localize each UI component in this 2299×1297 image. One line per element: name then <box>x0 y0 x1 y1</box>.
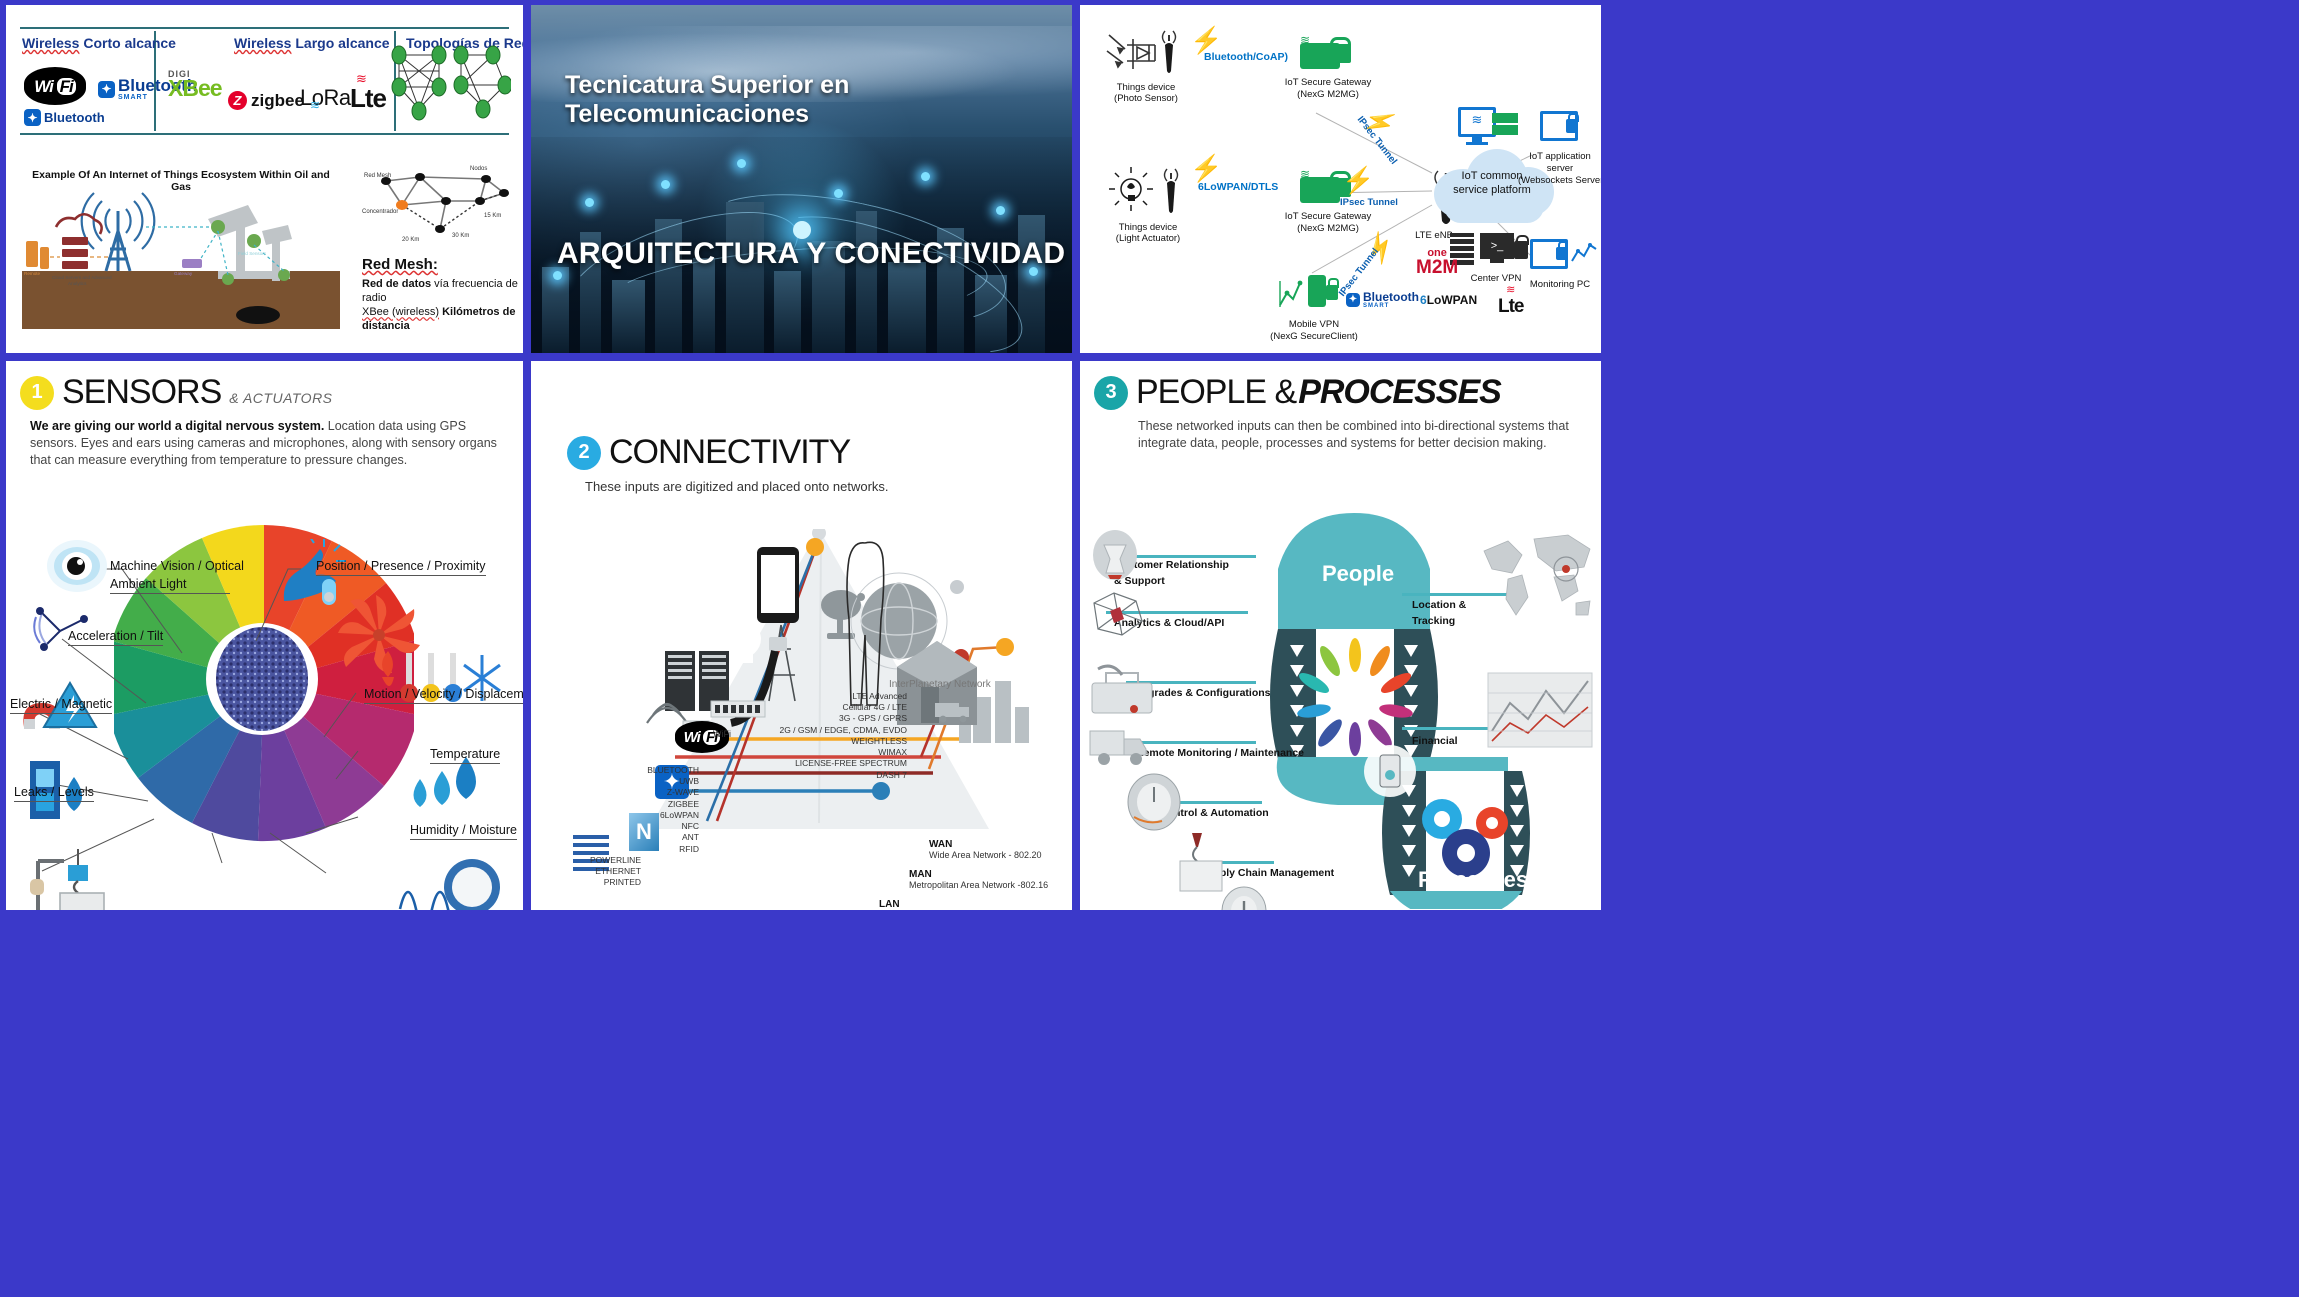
wifi-arc-icon-1: ≋ <box>1300 33 1310 48</box>
mesh-label-30km: 30 Km <box>452 233 469 239</box>
panel-title-slide: Tecnicatura Superior en Telecomunicacion… <box>531 5 1072 353</box>
monitor-icon-top: ≋ <box>1458 107 1496 137</box>
node-monitoring-pc-label: Monitoring PC <box>1520 279 1600 291</box>
lte-text: Lte <box>350 83 386 114</box>
sensors-heading: 1 SENSORS & ACTUATORS <box>6 361 523 412</box>
node-light-actuator-line2: (Light Actuator) <box>1098 233 1198 245</box>
label-position-presence: Position / Presence / Proximity <box>316 559 486 576</box>
panel-people-processes: 3 PEOPLE & PROCESSES These networked inp… <box>1080 361 1601 910</box>
pp-label-tracking: Tracking <box>1412 615 1455 627</box>
cloud-server-icon: ≋ <box>1458 107 1496 145</box>
wired-0: POWERLINE <box>567 855 641 866</box>
digi-xbee-logo: DIGI XBee <box>168 71 222 98</box>
section-number-2: 2 <box>567 436 601 470</box>
short-1: UWB <box>591 776 699 787</box>
bolt-icon-1: ⚡ <box>1190 27 1222 53</box>
bluetooth-icon: ✦ <box>24 109 41 126</box>
lora-text: LoRa <box>300 85 351 111</box>
bolt-icon-4: ⚡ <box>1342 167 1374 193</box>
red-mesh-note-km: Kilómetros de <box>442 306 515 318</box>
svg-text:Cloud Servers and Advanced: Cloud Servers and Advanced <box>52 275 112 280</box>
col-short-range: Wireless Corto alcance <box>22 35 176 51</box>
connectivity-heading: 2 CONNECTIVITY <box>531 361 1072 472</box>
node-mobile-vpn-line2: (NexG SecureClient) <box>1248 331 1380 343</box>
zigbee-icon: Z <box>228 91 247 110</box>
pp-label-location: Location & <box>1412 599 1466 611</box>
bluetooth-logo-text: Bluetooth <box>44 111 105 124</box>
node-light-actuator: Things device (Light Actuator) <box>1098 165 1198 245</box>
xbee-text: XBee <box>168 79 222 99</box>
6lowpan-logo: 6LoWPAN <box>1420 293 1477 307</box>
svg-text:Field Sensors: Field Sensors <box>238 251 267 256</box>
short-0: BLUETOOTH <box>591 765 699 776</box>
people-body: These networked inputs can then be combi… <box>1080 412 1601 452</box>
slide-grid: Wireless Corto alcance Wireless Largo al… <box>0 0 2299 1297</box>
red-mesh-note-xbee: XBee (wireless) <box>362 306 439 318</box>
net-lan: LAN Local Area Network - 802.11 <box>879 899 992 910</box>
node-app-server-line2: server <box>1518 163 1601 175</box>
lte-wave-icon: ≋ <box>1498 283 1524 296</box>
red-mesh-note-dist: distancia <box>362 320 410 332</box>
lte-logo: ≋ Lte <box>350 83 386 114</box>
cellular-7: DASH 7 <box>719 770 907 781</box>
node-photo-sensor: Things device (Photo Sensor) <box>1098 29 1194 105</box>
svg-text:Gateway: Gateway <box>174 271 193 276</box>
eye-icon <box>46 539 108 598</box>
label-motion-velocity: Motion / Velocity / Displacement <box>364 687 523 704</box>
node-light-actuator-line1: Things device <box>1098 222 1198 234</box>
wifi-label: WiFi <box>713 729 731 739</box>
oil-gas-ecosystem-diagram: Example Of An Internet of Things Ecosyst… <box>22 165 340 335</box>
label-ambient-light: Ambient Light <box>110 577 230 594</box>
topic-title: ARQUITECTURA Y CONECTIVIDAD <box>557 237 1065 271</box>
people-title-a: PEOPLE & <box>1136 373 1296 412</box>
mesh-label-red-mesh: Red Mesh <box>364 173 391 179</box>
net-wan: WAN Wide Area Network - 802.20 <box>929 839 1042 860</box>
label-temperature: Temperature <box>430 747 500 764</box>
red-mesh-note-bold: Red de datos <box>362 278 431 290</box>
onem2m-text-m2m: M2M <box>1416 259 1458 276</box>
connectivity-title: CONNECTIVITY <box>609 433 850 472</box>
red-mesh-note: Red Mesh: Red de datos vía frecuencia de… <box>362 255 520 334</box>
bluetooth-icon: ✦ <box>1346 293 1360 307</box>
node-photo-sensor-line2: (Photo Sensor) <box>1098 93 1194 105</box>
net-man: MAN Metropolitan Area Network -802.16 <box>909 869 1048 890</box>
world-map-icon <box>1478 529 1594 629</box>
node-mobile-vpn-line1: Mobile VPN <box>1248 319 1380 331</box>
touch-proximity-icon <box>278 539 348 614</box>
customer-support-icon <box>1090 529 1140 581</box>
heading-secondary: Corto alcance <box>83 35 176 51</box>
bluetooth-smart-logo: ✦ Bluetooth SMART <box>1346 291 1419 309</box>
pp-label-remote-monitoring: Remote Monitoring / Maintenance <box>1136 747 1304 759</box>
col-short-range-heading: Wireless Corto alcance <box>22 35 176 51</box>
node-gateway-top: ≋ IoT Secure Gateway (NexG M2MG) <box>1266 33 1390 101</box>
node-app-server-line3: (Websockets Server) <box>1518 175 1601 187</box>
wired-stack: POWERLINE ETHERNET PRINTED <box>567 855 641 889</box>
cellular-3: 2G / GSM / EDGE, CDMA, EVDO <box>719 725 907 736</box>
pp-label-financial: Financial <box>1412 735 1458 747</box>
red-mesh-note-title: Red Mesh: <box>362 255 520 274</box>
node-gateway-top-line2: (NexG M2MG) <box>1266 89 1390 101</box>
sensors-subtitle: & ACTUATORS <box>229 390 332 412</box>
heading-primary: Wireless <box>234 35 291 51</box>
mesh-label-nodos: Nodos <box>470 166 487 172</box>
col-long-range: Wireless Largo alcance <box>234 35 390 51</box>
label-acceleration-tilt: Acceleration / Tilt <box>68 629 163 646</box>
section-number-3: 3 <box>1094 376 1128 410</box>
zigbee-logo: Z zigbee <box>228 91 304 110</box>
zigbee-text: zigbee <box>251 92 304 109</box>
node-app-server-line1: IoT application <box>1518 151 1601 163</box>
analytics-network-icon <box>1086 589 1146 641</box>
bluetooth-smart-icon: ✦ <box>98 81 115 98</box>
lora-logo: LoRa ≋ <box>300 85 351 111</box>
heading-primary: Wireless <box>22 35 79 51</box>
wifi-logo-text-wi: Wi <box>34 78 53 95</box>
net-wan-abbr: WAN <box>929 839 1042 850</box>
phone-icon <box>1308 275 1326 307</box>
interplanetary-label: InterPlanetary Network <box>889 679 991 690</box>
truck-icon <box>1086 723 1152 771</box>
acoustic-icon <box>398 853 508 910</box>
cellular-5: WIMAX <box>719 747 907 758</box>
mesh-topology-graphic <box>387 41 511 127</box>
short-range-stack: BLUETOOTH UWB Z-WAVE ZIGBEE 6LoWPAN NFC … <box>591 765 699 855</box>
node-gateway-top-line1: IoT Secure Gateway <box>1266 77 1390 89</box>
course-title: Tecnicatura Superior en Telecomunicacion… <box>565 71 1072 129</box>
connectivity-body: These inputs are digitized and placed on… <box>531 472 1072 496</box>
net-man-abbr: MAN <box>909 869 1048 880</box>
wifi-logo: Wi Fi <box>24 67 86 105</box>
section-number-1: 1 <box>20 376 54 410</box>
terminal-icon: >_ <box>1480 233 1514 259</box>
net-man-name: Metropolitan Area Network -802.16 <box>909 880 1048 890</box>
lora-wave-icon: ≋ <box>310 98 320 112</box>
force-load-icon <box>24 845 110 910</box>
lock-icon-1 <box>1330 37 1351 49</box>
mesh-label-15km: 15 Km <box>484 213 501 219</box>
sensors-body: We are giving our world a digital nervou… <box>6 412 523 469</box>
onem2m-logo: one M2M <box>1416 249 1458 276</box>
node-gateway-mid-line1: IoT Secure Gateway <box>1266 211 1390 223</box>
node-monitoring-pc: Monitoring PC <box>1520 237 1600 291</box>
node-app-server: IoT application server (Websockets Serve… <box>1518 109 1601 187</box>
net-lan-abbr: LAN <box>879 899 992 910</box>
lowpan-text: LoWPAN <box>1427 293 1477 307</box>
heading-secondary: Largo alcance <box>295 35 389 51</box>
svg-text:Analytics: Analytics <box>68 281 87 286</box>
wifi-arc-icon-2: ≋ <box>1300 167 1310 182</box>
wired-2: PRINTED <box>567 877 641 888</box>
bluetooth-logo: ✦ Bluetooth <box>24 109 105 126</box>
label-humidity-moisture: Humidity / Moisture <box>410 823 517 840</box>
divider-top <box>20 27 509 29</box>
col-long-range-heading: Wireless Largo alcance <box>234 35 390 51</box>
panel-sensors: 1 SENSORS & ACTUATORS We are giving our … <box>6 361 523 910</box>
label-leaks-levels: Leaks / Levels <box>14 785 94 802</box>
wired-1: ETHERNET <box>567 866 641 877</box>
cellular-4: WEIGHTLESS <box>719 736 907 747</box>
net-wan-name: Wide Area Network - 802.20 <box>929 850 1042 860</box>
panel-iot-architecture: Things device (Photo Sensor) Things devi… <box>1080 5 1601 353</box>
lte-logo: ≋ Lte <box>1498 283 1524 318</box>
svg-text:Remote: Remote <box>24 271 41 276</box>
financial-chart-icon <box>1484 667 1596 759</box>
mesh-label-20km: 20 Km <box>402 237 419 243</box>
cellular-0: LTE Advanced <box>719 691 907 702</box>
node-gateway-mid-line2: (NexG M2MG) <box>1266 223 1390 235</box>
people-heading: 3 PEOPLE & PROCESSES <box>1080 361 1601 412</box>
divider-bottom <box>20 133 509 135</box>
cellular-1: Cellular 4G / LTE <box>719 702 907 713</box>
red-mesh-diagram: Red Mesh Nodos Concentrador 20 Km 30 Km … <box>362 163 514 243</box>
cellular-6: LICENSE-FREE SPECTRUM <box>719 758 907 769</box>
short-4: 6LoWPAN <box>591 810 699 821</box>
lock-security-icon <box>1214 885 1272 910</box>
wifi-logo-text-fi: Fi <box>57 78 76 95</box>
sensors-body-bold: We are giving our world a digital nervou… <box>30 419 324 433</box>
upgrades-toolbox-icon <box>1086 661 1158 719</box>
label-machine-vision: Machine Vision / Optical <box>110 559 244 573</box>
label-electric-magnetic: Electric / Magnetic <box>10 697 112 714</box>
people-title-b: PROCESSES <box>1298 373 1501 412</box>
cellular-stack: LTE Advanced Cellular 4G / LTE 3G - GPS … <box>719 691 907 781</box>
short-6: ANT <box>591 832 699 843</box>
cellular-2: 3G - GPS / GPRS <box>719 713 907 724</box>
short-2: Z-WAVE <box>591 787 699 798</box>
temperature-icon <box>376 647 502 716</box>
node-photo-sensor-line1: Things device <box>1098 82 1194 94</box>
server-rack-icon-top <box>1492 113 1518 135</box>
short-7: RFID <box>591 844 699 855</box>
short-5: NFC <box>591 821 699 832</box>
bluetooth-text: Bluetooth <box>1363 290 1419 304</box>
thermostat-dial-icon <box>1124 773 1184 831</box>
panel-wireless-technologies: Wireless Corto alcance Wireless Largo al… <box>6 5 523 353</box>
bolt-icon-2: ⚡ <box>1190 155 1222 181</box>
lte-text: Lte <box>1498 296 1524 318</box>
panel-connectivity: 2 CONNECTIVITY These inputs are digitize… <box>531 361 1072 910</box>
cap-processes-text: Processes <box>1418 867 1528 892</box>
cap-people-text: People <box>1322 561 1394 586</box>
short-3: ZIGBEE <box>591 799 699 810</box>
mesh-label-concentrador: Concentrador <box>362 209 398 215</box>
sensors-title: SENSORS <box>62 373 221 412</box>
